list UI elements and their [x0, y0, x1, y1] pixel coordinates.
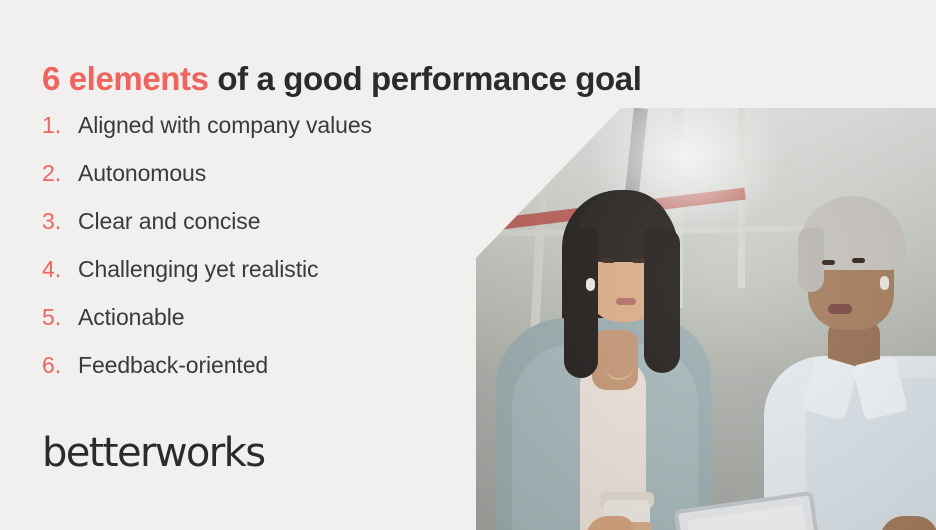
page-title-rest: of a good performance goal [209, 60, 642, 97]
list-item-label: Feedback-oriented [78, 352, 268, 379]
list-item-number: 4. [42, 256, 78, 283]
list-item-label: Clear and concise [78, 208, 260, 235]
list-item-number: 3. [42, 208, 78, 235]
person-one-earring [586, 278, 595, 291]
page-title: 6 elements of a good performance goal [42, 60, 642, 98]
list-item-label: Challenging yet realistic [78, 256, 318, 283]
person-one-mouth [616, 298, 636, 305]
photo-canvas [476, 108, 936, 530]
two-colleagues-talking-photo [476, 108, 936, 530]
list-item: 6. Feedback-oriented [42, 352, 512, 400]
list-item-number: 1. [42, 112, 78, 139]
person-one-hair-right [644, 228, 680, 373]
list-item-number: 5. [42, 304, 78, 331]
person-two-mouth [828, 304, 852, 314]
page-title-accent: 6 elements [42, 60, 209, 97]
tablet-screen [687, 504, 816, 530]
person-two-earring [880, 276, 889, 290]
list-item: 4. Challenging yet realistic [42, 256, 512, 304]
person-two-hair-side [798, 228, 824, 292]
person-two-eye-right [852, 258, 865, 263]
list-item-number: 2. [42, 160, 78, 187]
betterworks-logo: betterworks [42, 430, 264, 476]
person-one-eye-left [602, 258, 615, 263]
person-one-neck [592, 330, 638, 390]
person-two-eye-left [822, 260, 835, 265]
person-one-hair-left [564, 228, 598, 378]
list-item: 3. Clear and concise [42, 208, 512, 256]
person-one-eye-right [632, 258, 645, 263]
list-item-number: 6. [42, 352, 78, 379]
elements-list: 1. Aligned with company values 2. Autono… [42, 112, 512, 400]
list-item-label: Actionable [78, 304, 184, 331]
list-item-label: Autonomous [78, 160, 206, 187]
list-item-label: Aligned with company values [78, 112, 372, 139]
slide: 6 elements of a good performance goal 1.… [0, 0, 936, 530]
list-item: 2. Autonomous [42, 160, 512, 208]
list-item: 1. Aligned with company values [42, 112, 512, 160]
list-item: 5. Actionable [42, 304, 512, 352]
